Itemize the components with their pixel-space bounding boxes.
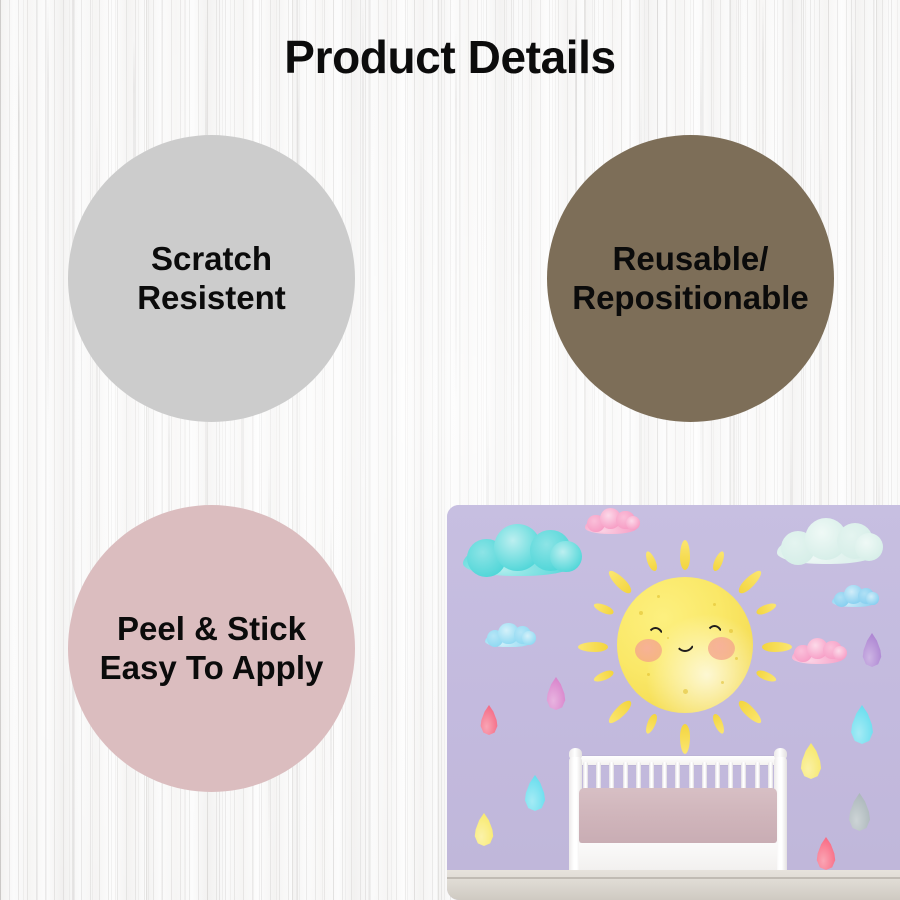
sun-texture-speck xyxy=(683,689,688,694)
sun-ray xyxy=(606,568,634,596)
sun-texture-speck xyxy=(713,603,716,606)
sun-mouth xyxy=(675,641,695,652)
sun-texture-speck xyxy=(735,657,738,660)
sun-left-eye xyxy=(647,627,664,638)
feature-badge-scratch-resistent: Scratch Resistent xyxy=(68,135,355,422)
sun-decal xyxy=(575,535,795,755)
nursery-baseboard xyxy=(447,870,900,900)
sun-ray xyxy=(762,642,792,652)
sun-right-cheek xyxy=(708,637,735,660)
feature-badge-peel-and-stick: Peel & Stick Easy To Apply xyxy=(68,505,355,792)
feature-badge-reusable-repositionable-label: Reusable/ Repositionable xyxy=(551,240,831,317)
sun-texture-speck xyxy=(639,611,643,615)
sun-ray xyxy=(736,698,764,726)
product-photo-nursery-scene xyxy=(447,505,900,900)
sun-texture-speck xyxy=(721,681,724,684)
sun-ray xyxy=(592,668,614,683)
sun-texture-speck xyxy=(667,637,669,639)
sun-right-eye xyxy=(706,625,723,636)
sun-ray xyxy=(592,601,614,616)
sun-ray xyxy=(711,713,726,735)
sun-ray xyxy=(644,550,659,572)
sun-ray xyxy=(711,550,726,572)
sun-ray xyxy=(606,698,634,726)
cloud-decal xyxy=(463,523,575,575)
crib-bumper xyxy=(579,788,777,843)
sun-ray xyxy=(680,540,690,570)
page-title: Product Details xyxy=(0,30,900,84)
cloud-decal xyxy=(485,623,533,647)
sun-ray xyxy=(755,668,777,683)
sun-texture-speck xyxy=(729,629,733,633)
cloud-decal xyxy=(832,585,876,607)
cloud-decal xyxy=(792,637,844,663)
sun-ray xyxy=(736,568,764,596)
feature-badge-peel-and-stick-label: Peel & Stick Easy To Apply xyxy=(73,610,351,687)
sun-ray xyxy=(644,713,659,735)
sun-face-disc xyxy=(617,577,753,713)
sun-left-cheek xyxy=(635,639,662,662)
cloud-decal xyxy=(585,507,637,533)
feature-badge-reusable-repositionable: Reusable/ Repositionable xyxy=(547,135,834,422)
product-details-infographic: Product Details Scratch Resistent Reusab… xyxy=(0,0,900,900)
sun-ray xyxy=(755,601,777,616)
sun-texture-speck xyxy=(657,595,660,598)
sun-texture-speck xyxy=(647,673,650,676)
feature-badge-scratch-resistent-label: Scratch Resistent xyxy=(137,240,286,317)
sun-ray xyxy=(578,642,608,652)
